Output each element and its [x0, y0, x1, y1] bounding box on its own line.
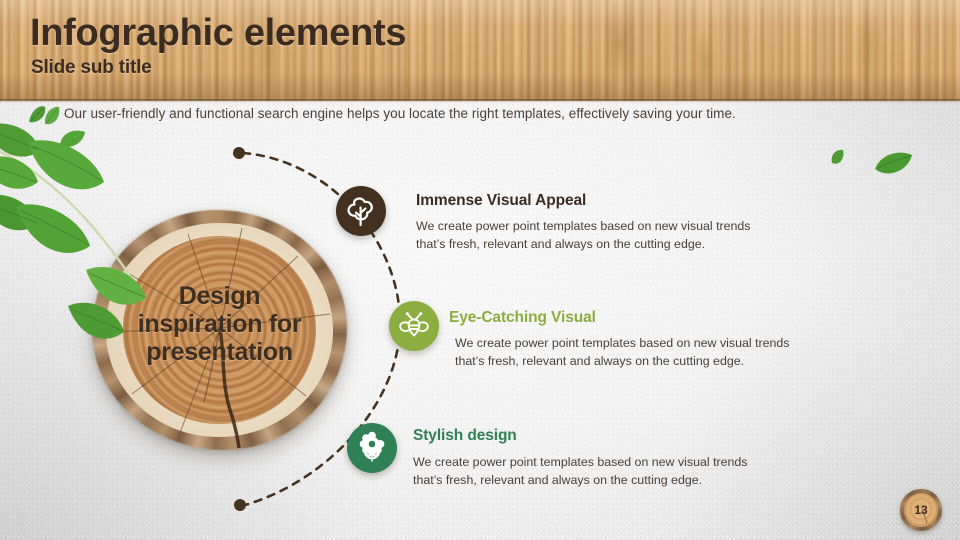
page-subtitle: Slide sub title	[31, 57, 152, 79]
page-number-badge: 13	[900, 489, 942, 531]
center-label-line3: presentation	[146, 338, 292, 366]
floating-leaf-icon-2	[872, 149, 916, 181]
feature-body-3: We create power point templates based on…	[413, 454, 773, 489]
feature-icon-badge-2[interactable]	[389, 301, 439, 351]
slide-canvas: Infographic elements Slide sub title Our…	[0, 0, 960, 540]
floating-leaf-icon-3	[58, 128, 88, 152]
center-label: Design inspiration for presentation	[92, 282, 347, 366]
flower-icon	[347, 423, 397, 473]
bee-icon	[389, 301, 439, 351]
feature-icon-badge-3[interactable]	[347, 423, 397, 473]
feature-icon-badge-1[interactable]	[336, 186, 386, 236]
intro-leaf-icon	[26, 102, 64, 128]
feature-title-1: Immense Visual Appeal	[416, 192, 586, 210]
header-bottom-edge	[0, 99, 960, 103]
tree-icon	[336, 186, 386, 236]
arc-end-dot	[234, 499, 246, 511]
intro-description: Our user-friendly and functional search …	[64, 106, 824, 121]
center-label-line1: Design	[179, 282, 261, 310]
floating-leaf-icon-1	[828, 147, 850, 169]
feature-body-1: We create power point templates based on…	[416, 218, 776, 253]
wood-slice-graphic: Design inspiration for presentation	[92, 210, 347, 450]
feature-title-3: Stylish design	[413, 427, 517, 445]
page-title: Infographic elements	[30, 12, 406, 55]
center-label-line2: inspiration for	[138, 310, 302, 338]
page-number-text: 13	[900, 489, 942, 531]
feature-title-2: Eye-Catching Visual	[449, 309, 596, 327]
arc-start-dot	[233, 147, 245, 159]
feature-body-2: We create power point templates based on…	[455, 335, 815, 370]
